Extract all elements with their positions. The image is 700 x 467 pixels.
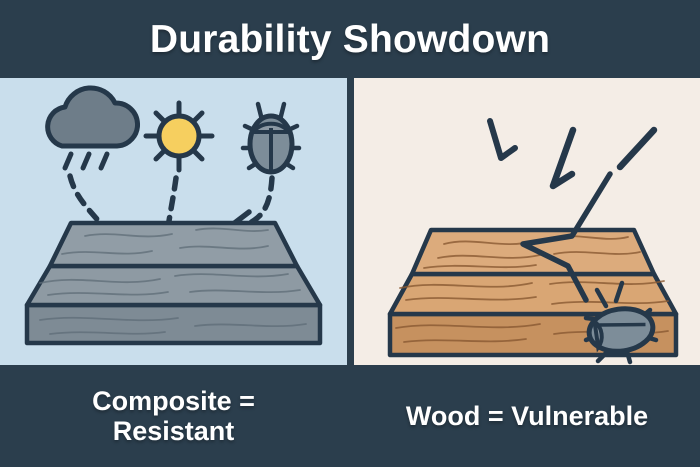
- rain-cloud-icon: [48, 88, 138, 168]
- composite-caption-line-1: Composite =: [92, 386, 255, 416]
- wood-panel: [354, 78, 700, 365]
- durability-showdown-infographic: Durability Showdown: [0, 0, 700, 467]
- composite-caption-line-2: Resistant: [113, 416, 235, 446]
- composite-deck-board: [27, 223, 320, 343]
- bug-icon: [243, 104, 299, 172]
- sun-icon: [146, 103, 212, 170]
- impact-mark-3: [620, 130, 654, 167]
- impact-mark-1: [490, 121, 515, 158]
- deflected-bug-arrow: [238, 178, 272, 228]
- title-bar: Durability Showdown: [0, 0, 700, 78]
- impact-mark-2: [553, 130, 573, 186]
- composite-panel: [0, 78, 347, 365]
- page-title: Durability Showdown: [150, 20, 550, 59]
- composite-caption: Composite = Resistant: [0, 365, 347, 467]
- wood-caption-line-1: Wood = Vulnerable: [406, 401, 648, 431]
- wood-caption: Wood = Vulnerable: [354, 365, 700, 467]
